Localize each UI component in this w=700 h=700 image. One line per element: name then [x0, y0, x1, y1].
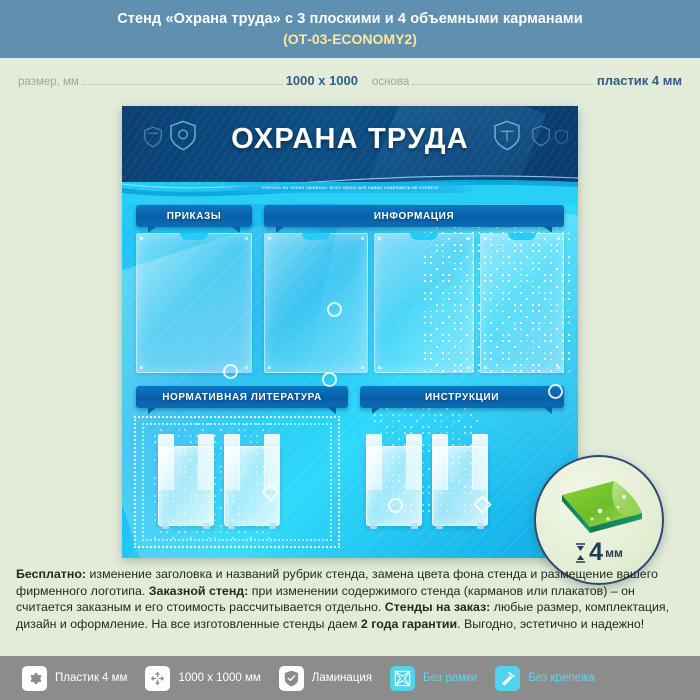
pocket-clip	[245, 366, 248, 369]
footer-label-lamination: Ламинация	[312, 672, 372, 684]
pocket-clip	[245, 237, 248, 240]
pocket-clip	[467, 237, 470, 240]
blurb-text-4: . Выгодно, эстетично и надежно!	[457, 617, 644, 631]
pocket-clip	[268, 237, 271, 240]
pocket-clip	[140, 366, 143, 369]
pocket-notch	[508, 233, 536, 240]
pocket-clip	[378, 237, 381, 240]
blurb-bold-free: Бесплатно:	[16, 567, 86, 581]
pocket-foot	[203, 523, 210, 529]
footer-label-no-frame: Без рамки	[423, 672, 477, 684]
ring-decor	[327, 302, 342, 317]
ring-decor	[388, 498, 403, 513]
pocket-clip	[140, 237, 143, 240]
section-plate-instrukcii: ИНСТРУКЦИИ	[360, 386, 564, 408]
pocket-clip	[467, 366, 470, 369]
stand-motto: УЧИТЕСЬ НА ЧУЖИХ ОШИБКАХ, ВСЕХ СВОИХ ВСЁ…	[221, 182, 479, 193]
flat-pocket	[480, 233, 564, 373]
footer-label-material: Пластик 4 мм	[55, 672, 127, 684]
section-label-prikazy: ПРИКАЗЫ	[167, 211, 222, 222]
pocket-clip	[484, 366, 487, 369]
blurb-bold-order: Стенды на заказ:	[385, 600, 491, 614]
volume-pocket	[224, 434, 280, 526]
badge-thickness-number: 4	[589, 538, 603, 567]
flat-pocket	[264, 233, 368, 373]
pocket-body	[158, 446, 214, 526]
pocket-clip	[378, 366, 381, 369]
page-title: Стенд «Охрана труда» с 3 плоскими и 4 об…	[117, 11, 583, 28]
pocket-notch	[410, 233, 438, 240]
product-code: (ОТ-03-ECONOMY2)	[283, 31, 417, 47]
blurb-bold-custom: Заказной стенд:	[149, 584, 249, 598]
footer-item-size[interactable]: 1000 x 1000 мм	[145, 666, 260, 691]
no-frame-icon	[390, 666, 415, 691]
pocket-notch	[302, 233, 330, 240]
spec-size: размер, мм 1000 x 1000	[18, 73, 358, 88]
pocket-foot	[162, 523, 169, 529]
spec-base-value: пластик 4 мм	[597, 73, 682, 88]
footer-item-material[interactable]: Пластик 4 мм	[22, 666, 127, 691]
pocket-notch	[180, 233, 208, 240]
pocket-body	[366, 446, 422, 526]
pocket-clip	[557, 237, 560, 240]
footer-item-no-frame[interactable]: Без рамки	[390, 666, 477, 691]
pocket-foot	[228, 523, 235, 529]
stand-title: ОХРАНА ТРУДА	[122, 123, 578, 156]
footer-item-lamination[interactable]: Ламинация	[279, 666, 372, 691]
footer-bar: Пластик 4 мм 1000 x 1000 мм Ламинация	[0, 656, 700, 700]
flat-pocket	[374, 233, 474, 373]
stand-preview: ОХРАНА ТРУДА УЧИТЕСЬ НА ЧУЖИХ ОШИБКАХ, В…	[122, 106, 578, 558]
spec-base: основа пластик 4 мм	[372, 73, 682, 88]
stand-motto-text: УЧИТЕСЬ НА ЧУЖИХ ОШИБКАХ, ВСЕХ СВОИХ ВСЁ…	[262, 186, 439, 190]
footer-label-no-mount: Без крепежа	[528, 672, 595, 684]
pocket-foot	[370, 523, 377, 529]
blurb-bold-warranty: 2 года гарантии	[361, 617, 457, 631]
footer-label-size: 1000 x 1000 мм	[178, 672, 260, 684]
spec-size-label: размер, мм	[18, 76, 79, 88]
pocket-clip	[268, 366, 271, 369]
ring-decor	[548, 384, 563, 399]
section-plate-normativnaya-literatura: НОРМАТИВНАЯ ЛИТЕРАТУРА	[136, 386, 348, 408]
section-plate-prikazy: ПРИКАЗЫ	[136, 205, 252, 227]
pocket-foot	[477, 523, 484, 529]
spec-size-dots	[82, 84, 283, 85]
no-mount-icon	[495, 666, 520, 691]
section-plate-informaciya: ИНФОРМАЦИЯ	[264, 205, 564, 227]
volume-pocket	[366, 434, 422, 526]
spec-size-value: 1000 x 1000	[286, 73, 358, 88]
section-label-informaciya: ИНФОРМАЦИЯ	[374, 211, 455, 222]
description-paragraph: Бесплатно: изменение заголовка и названи…	[16, 566, 684, 632]
thickness-arrows-icon	[575, 543, 586, 563]
spec-line: размер, мм 1000 x 1000 основа пластик 4 …	[0, 58, 700, 102]
resize-arrows-icon	[145, 666, 170, 691]
pocket-foot	[436, 523, 443, 529]
stand-board: ОХРАНА ТРУДА УЧИТЕСЬ НА ЧУЖИХ ОШИБКАХ, В…	[122, 106, 578, 558]
volume-pocket	[158, 434, 214, 526]
pocket-clip	[361, 237, 364, 240]
badge-thickness-unit: мм	[605, 546, 623, 560]
gear-icon	[22, 666, 47, 691]
pocket-foot	[411, 523, 418, 529]
section-label-instrukcii: ИНСТРУКЦИИ	[425, 392, 499, 403]
pocket-body	[432, 446, 488, 526]
section-label-normativnaya-literatura: НОРМАТИВНАЯ ЛИТЕРАТУРА	[162, 392, 322, 403]
badge-thickness-value: 4 мм	[536, 538, 662, 567]
pocket-clip	[484, 237, 487, 240]
footer-item-no-mount[interactable]: Без крепежа	[495, 666, 595, 691]
pocket-clip	[557, 366, 560, 369]
shield-check-icon	[279, 666, 304, 691]
spec-base-label: основа	[372, 76, 409, 88]
volume-pocket	[432, 434, 488, 526]
spec-base-dots	[412, 84, 594, 85]
ring-decor	[223, 364, 238, 379]
flat-pocket	[136, 233, 252, 373]
page-header: Стенд «Охрана труда» с 3 плоскими и 4 об…	[0, 0, 700, 58]
pocket-clip	[361, 366, 364, 369]
ring-decor	[322, 372, 337, 387]
pocket-foot	[269, 523, 276, 529]
